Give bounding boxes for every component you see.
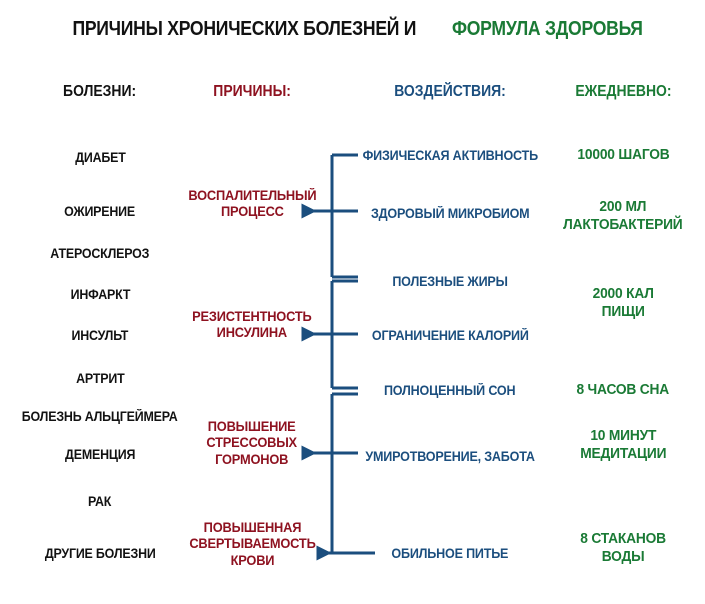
impact-item: ПОЛНОЦЕННЫЙ СОН [345, 383, 555, 399]
column-header-impacts: ВОЗДЕЙСТВИЯ: [345, 83, 555, 101]
disease-item-label: ИНСУЛЬТ [72, 328, 129, 344]
impact-item: ПОЛЕЗНЫЕ ЖИРЫ [345, 274, 555, 290]
disease-item-label: ДРУГИЕ БОЛЕЗНИ [45, 546, 156, 562]
page-title: ПРИЧИНЫ ХРОНИЧЕСКИХ БОЛЕЗНЕЙ И ФОРМУЛА З… [0, 18, 705, 41]
disease-item: ДРУГИЕ БОЛЕЗНИ [0, 546, 200, 562]
column-header-diseases-label: БОЛЕЗНИ: [63, 83, 136, 101]
disease-item-label: ДЕМЕНЦИЯ [65, 447, 135, 463]
impact-item-label: ПОЛНОЦЕННЫЙ СОН [384, 383, 515, 399]
daily-item-label: 8 ЧАСОВ СНА [577, 382, 670, 400]
disease-item-label: ДИАБЕТ [75, 150, 125, 166]
daily-item: 10 МИНУТ МЕДИТАЦИИ [543, 428, 703, 463]
disease-item-label: АТЕРОСКЛЕРОЗ [51, 246, 150, 262]
daily-item: 8 СТАКАНОВ ВОДЫ [543, 531, 703, 566]
disease-item: ИНСУЛЬТ [0, 328, 200, 344]
disease-item: БОЛЕЗНЬ АЛЬЦГЕЙМЕРА [0, 409, 200, 425]
impact-item-label: ЗДОРОВЫЙ МИКРОБИОМ [371, 206, 529, 222]
daily-item: 200 МЛ ЛАКТОБАКТЕРИЙ [543, 199, 703, 234]
column-header-diseases: БОЛЕЗНИ: [0, 83, 200, 101]
page-title-primary: ПРИЧИНЫ ХРОНИЧЕСКИХ БОЛЕЗНЕЙ И [72, 18, 416, 41]
cause-item: РЕЗИСТЕНТНОСТЬ ИНСУЛИНА [177, 309, 327, 342]
daily-item-label: 2000 КАЛ ПИЩИ [592, 286, 653, 321]
impact-item: ФИЗИЧЕСКАЯ АКТИВНОСТЬ [345, 148, 555, 164]
column-header-daily: ЕЖЕДНЕВНО: [543, 83, 703, 101]
daily-item-label: 10000 ШАГОВ [577, 147, 669, 165]
disease-item-label: ОЖИРЕНИЕ [65, 204, 136, 220]
column-header-causes-label: ПРИЧИНЫ: [213, 83, 291, 101]
disease-item: ДИАБЕТ [0, 150, 200, 166]
disease-item: ИНФАРКТ [0, 287, 200, 303]
daily-item-label: 8 СТАКАНОВ ВОДЫ [580, 531, 666, 566]
page-title-accent: ФОРМУЛА ЗДОРОВЬЯ [452, 18, 643, 41]
impact-item: ОБИЛЬНОЕ ПИТЬЕ [345, 546, 555, 562]
daily-item: 2000 КАЛ ПИЩИ [543, 286, 703, 321]
daily-item-label: 10 МИНУТ МЕДИТАЦИИ [580, 428, 666, 463]
cause-item: ВОСПАЛИТЕЛЬНЫЙ ПРОЦЕСС [177, 188, 327, 221]
impact-item-label: ПОЛЕЗНЫЕ ЖИРЫ [392, 274, 507, 290]
infographic-canvas: ПРИЧИНЫ ХРОНИЧЕСКИХ БОЛЕЗНЕЙ И ФОРМУЛА З… [0, 0, 705, 604]
impact-item: УМИРОТВОРЕНИЕ, ЗАБОТА [345, 449, 555, 465]
daily-item: 10000 ШАГОВ [543, 147, 703, 165]
disease-item: РАК [0, 494, 200, 510]
impact-item-label: ОГРАНИЧЕНИЕ КАЛОРИЙ [372, 328, 529, 344]
column-header-impacts-label: ВОЗДЕЙСТВИЯ: [394, 83, 506, 101]
cause-item-label: ПОВЫШЕНИЕ СТРЕССОВЫХ ГОРМОНОВ [207, 419, 298, 468]
impact-item: ЗДОРОВЫЙ МИКРОБИОМ [345, 206, 555, 222]
cause-item-label: РЕЗИСТЕНТНОСТЬ ИНСУЛИНА [192, 309, 311, 342]
cause-item: ПОВЫШЕННАЯ СВЕРТЫВАЕМОСТЬ КРОВИ [177, 520, 327, 569]
impact-item-label: УМИРОТВОРЕНИЕ, ЗАБОТА [365, 449, 534, 465]
disease-item-label: АРТРИТ [76, 371, 124, 387]
disease-item-label: БОЛЕЗНЬ АЛЬЦГЕЙМЕРА [22, 409, 178, 425]
column-header-causes: ПРИЧИНЫ: [177, 83, 327, 101]
disease-item-label: ИНФАРКТ [70, 287, 130, 303]
impact-item: ОГРАНИЧЕНИЕ КАЛОРИЙ [345, 328, 555, 344]
disease-item: АРТРИТ [0, 371, 200, 387]
disease-item: ОЖИРЕНИЕ [0, 204, 200, 220]
cause-item-label: ВОСПАЛИТЕЛЬНЫЙ ПРОЦЕСС [188, 188, 316, 221]
daily-item: 8 ЧАСОВ СНА [543, 382, 703, 400]
disease-item-label: РАК [88, 494, 111, 510]
column-header-daily-label: ЕЖЕДНЕВНО: [575, 83, 671, 101]
impact-item-label: ОБИЛЬНОЕ ПИТЬЕ [392, 546, 509, 562]
impact-item-label: ФИЗИЧЕСКАЯ АКТИВНОСТЬ [362, 148, 537, 164]
disease-item: АТЕРОСКЛЕРОЗ [0, 246, 200, 262]
cause-item-label: ПОВЫШЕННАЯ СВЕРТЫВАЕМОСТЬ КРОВИ [189, 520, 315, 569]
cause-item: ПОВЫШЕНИЕ СТРЕССОВЫХ ГОРМОНОВ [177, 419, 327, 468]
disease-item: ДЕМЕНЦИЯ [0, 447, 200, 463]
daily-item-label: 200 МЛ ЛАКТОБАКТЕРИЙ [563, 199, 682, 234]
